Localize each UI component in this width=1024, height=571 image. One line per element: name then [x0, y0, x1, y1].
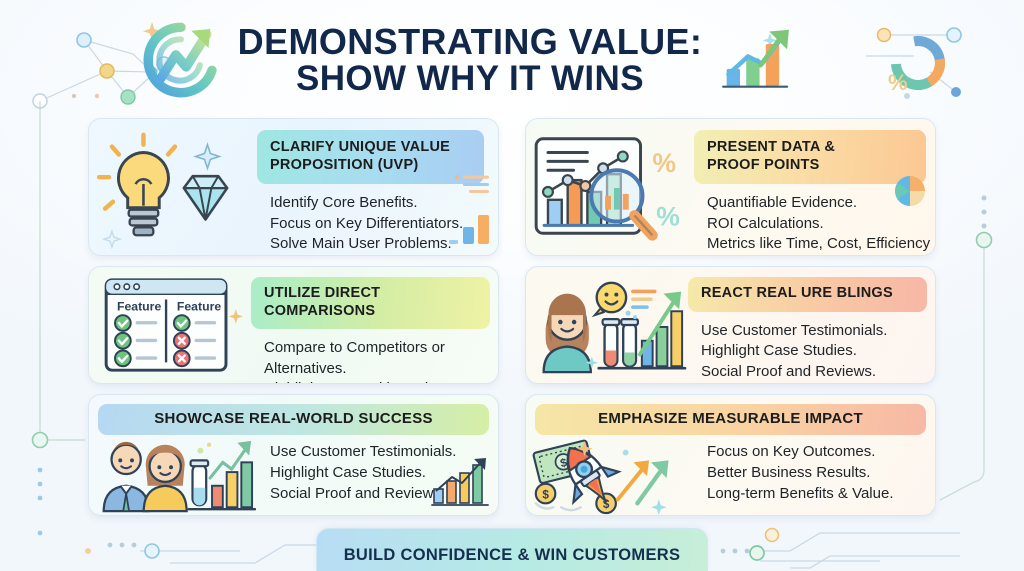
bullet-item: Highlight Case Studies.	[701, 341, 925, 362]
svg-text:Feature: Feature	[117, 299, 161, 313]
bullet-item: Use Customer Testimonials.	[270, 442, 456, 463]
card-header-bar: PRESENT DATA & PROOF POINTS	[694, 130, 926, 184]
card-title-line-1: SHOWCASE REAL-WORLD SUCCESS	[154, 410, 432, 427]
title-line-1: DEMONSTRATING VALUE:	[238, 24, 703, 61]
feature-comparison-table-icon: Feature Feature	[89, 267, 251, 383]
growth-arrow-circle-icon	[138, 17, 224, 103]
card-title-line-1: REACT REAL URE BLINGS	[701, 285, 915, 303]
bullet-item: Identify Core Benefits.	[270, 193, 488, 214]
bullet-item: ROI Calculations.	[707, 214, 930, 235]
svg-text:Feature: Feature	[177, 299, 221, 313]
card-row-2: Feature Feature	[88, 266, 936, 384]
lines-decor-icon	[452, 173, 492, 193]
card-header-bar: UTILIZE DIRECT COMPARISONS	[251, 277, 490, 329]
card-utilize-direct-comparisons[interactable]: Feature Feature	[88, 266, 499, 384]
donut-chart-icon	[810, 23, 886, 97]
lightbulb-diamond-icon	[89, 119, 257, 255]
bullet-item: Long-term Benefits & Value.	[707, 484, 894, 505]
svg-text:$: $	[542, 489, 549, 502]
card-bullets: Focus on Key Outcomes. Better Business R…	[694, 440, 904, 512]
card-title-line-1: EMPHASIZE MEASURABLE IMPACT	[598, 410, 863, 427]
bullet-item: Highlight Case Studies.	[270, 463, 456, 484]
pie-chart-icon	[893, 175, 927, 207]
bullet-item: Better Business Results.	[707, 463, 894, 484]
page-title: DEMONSTRATING VALUE: SHOW WHY IT WINS	[238, 24, 703, 96]
card-showcase-real-world-success[interactable]: SHOWCASE REAL-WORLD SUCCESS	[88, 394, 499, 516]
card-grid: CLARIFY UNIQUE VALUE PROPOSITION (UVP) I…	[88, 118, 936, 526]
bullet-item: Focus on Key Outcomes.	[707, 442, 894, 463]
poster-header: DEMONSTRATING VALUE: SHOW WHY IT WINS	[0, 8, 1024, 112]
happy-customer-chart-icon	[526, 267, 688, 383]
card-row-3: SHOWCASE REAL-WORLD SUCCESS	[88, 394, 936, 516]
footer-label: BUILD CONFIDENCE & WIN CUSTOMERS	[344, 537, 681, 565]
bullet-item: Alternatives.	[264, 359, 488, 380]
chart-magnifier-icon: % %	[526, 119, 694, 255]
infographic-poster: %	[0, 0, 1024, 571]
card-row-1: CLARIFY UNIQUE VALUE PROPOSITION (UVP) I…	[88, 118, 936, 256]
mini-bars-icon	[447, 213, 491, 247]
svg-text:%: %	[652, 148, 676, 178]
bullet-item: Social Proof and Reviews.	[701, 362, 925, 383]
card-title-line-1: PRESENT DATA &	[707, 139, 914, 157]
card-bullets: Compare to Competitors or Alternatives. …	[251, 329, 498, 384]
bullet-item: Metrics like Time, Cost, Efficiency	[707, 234, 930, 255]
bullet-item: Use Customer Testimonials.	[701, 321, 925, 342]
card-emphasize-measurable-impact[interactable]: EMPHASIZE MEASURABLE IMPACT $	[525, 394, 936, 516]
rocket-money-icon: $ $ $	[526, 435, 694, 516]
bullet-item: Highlight Competitive Edges.	[264, 379, 488, 384]
card-header-bar: SHOWCASE REAL-WORLD SUCCESS	[98, 404, 489, 435]
card-title-line-2: PROOF POINTS	[707, 157, 914, 175]
bar-chart-growth-icon	[716, 23, 796, 97]
card-title-line-1: CLARIFY UNIQUE VALUE	[270, 139, 472, 157]
mini-growth-chart-icon	[430, 457, 490, 507]
bullet-item: Compare to Competitors or	[264, 338, 488, 359]
card-title-line-1: UTILIZE DIRECT COMPARISONS	[264, 285, 478, 320]
card-title-line-2: PROPOSITION (UVP)	[270, 157, 472, 175]
bullet-item: Social Proof and Reviews.	[270, 484, 456, 505]
card-react-real-ure-blings[interactable]: REACT REAL URE BLINGS Use Customer Testi…	[525, 266, 936, 384]
card-bullets: Use Customer Testimonials. Highlight Cas…	[688, 312, 935, 384]
card-header-bar: CLARIFY UNIQUE VALUE PROPOSITION (UVP)	[257, 130, 484, 184]
card-header-bar: EMPHASIZE MEASURABLE IMPACT	[535, 404, 926, 435]
svg-text:%: %	[656, 201, 680, 231]
happy-couple-growth-icon	[89, 435, 257, 516]
title-line-2: SHOW WHY IT WINS	[238, 61, 703, 97]
footer-banner[interactable]: BUILD CONFIDENCE & WIN CUSTOMERS	[316, 528, 708, 571]
card-present-data-proof-points[interactable]: % % PRESENT DATA & PROOF POINTS Quantifi…	[525, 118, 936, 256]
card-clarify-unique-value-proposition[interactable]: CLARIFY UNIQUE VALUE PROPOSITION (UVP) I…	[88, 118, 499, 256]
card-header-bar: REACT REAL URE BLINGS	[688, 277, 927, 312]
